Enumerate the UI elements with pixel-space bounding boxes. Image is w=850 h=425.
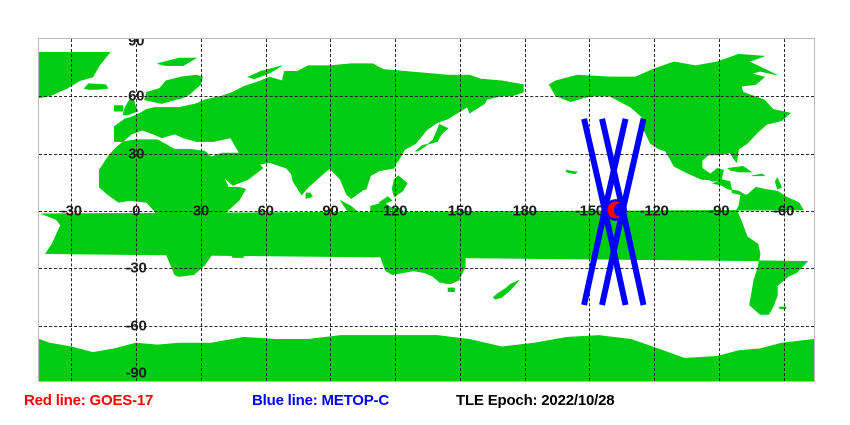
land-europe-scandinavia bbox=[145, 75, 203, 104]
parallel-30 bbox=[39, 154, 814, 155]
land-central-america bbox=[713, 180, 745, 195]
land-tasmania bbox=[448, 288, 454, 292]
parallel-0 bbox=[39, 211, 814, 212]
longitude-label--90: -90 bbox=[708, 203, 729, 220]
parallel-60 bbox=[39, 96, 814, 97]
longitude-label--30: -30 bbox=[61, 203, 82, 220]
longitude-label--150: -150 bbox=[575, 203, 604, 220]
latitude-label-30: 30 bbox=[128, 145, 144, 162]
land-caribbean-arc bbox=[775, 178, 781, 189]
latitude-label-60: 60 bbox=[128, 88, 144, 105]
legend-tle-epoch: TLE Epoch: 2022/10/28 bbox=[456, 392, 614, 409]
landmass-layer bbox=[39, 39, 814, 381]
longitude-label-180: 180 bbox=[513, 203, 537, 220]
satellite-ground-track-map: -300306090120150180-150-120-90-60906030-… bbox=[0, 0, 850, 425]
map-plot-area: -300306090120150180-150-120-90-60906030-… bbox=[39, 39, 814, 381]
longitude-label-30: 30 bbox=[193, 203, 209, 220]
longitude-label-60: 60 bbox=[258, 203, 274, 220]
longitude-label--60: -60 bbox=[773, 203, 794, 220]
longitude-label--120: -120 bbox=[640, 203, 669, 220]
latitude-label--90: -90 bbox=[126, 365, 147, 382]
longitude-label-90: 90 bbox=[322, 203, 338, 220]
land-cuba bbox=[728, 166, 752, 172]
parallel--60 bbox=[39, 326, 814, 327]
longitude-label-120: 120 bbox=[383, 203, 407, 220]
land-svalbard bbox=[157, 58, 196, 66]
latitude-label--60: -60 bbox=[126, 317, 147, 334]
map-frame: -300306090120150180-150-120-90-60906030-… bbox=[38, 38, 815, 382]
land-antarctica bbox=[39, 335, 814, 381]
land-iceland bbox=[84, 84, 108, 90]
land-ellesmere bbox=[717, 54, 764, 65]
land-ireland bbox=[114, 106, 123, 112]
parallel--30 bbox=[39, 268, 814, 269]
longitude-label-0: 0 bbox=[132, 203, 140, 220]
legend-red-line: Red line: GOES-17 bbox=[24, 392, 153, 409]
legend-blue-line: Blue line: METOP-C bbox=[252, 392, 389, 409]
legend: Red line: GOES-17 Blue line: METOP-C TLE… bbox=[0, 392, 850, 422]
latitude-label--30: -30 bbox=[126, 260, 147, 277]
land-india-sri bbox=[306, 193, 312, 199]
longitude-label-150: 150 bbox=[448, 203, 472, 220]
land-greenland bbox=[39, 52, 110, 98]
land-hispaniola bbox=[752, 174, 765, 176]
land-polygons bbox=[39, 52, 814, 381]
land-new-zealand bbox=[493, 280, 519, 299]
land-hawaii bbox=[566, 170, 577, 174]
latitude-label-90: 90 bbox=[128, 39, 144, 50]
